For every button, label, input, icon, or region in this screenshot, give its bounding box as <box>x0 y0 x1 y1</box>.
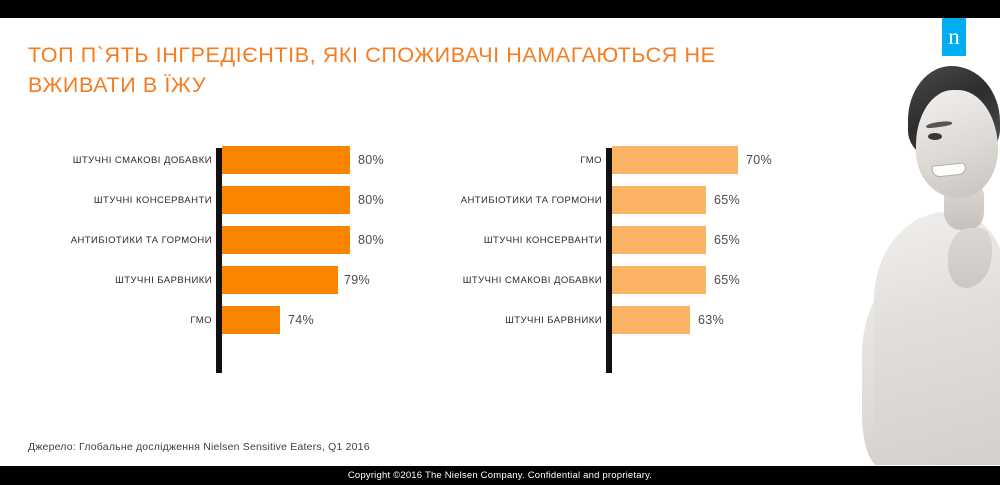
bar-label: АНТИБІОТИКИ ТА ГОРМОНИ <box>2 235 212 246</box>
table-row: ШТУЧНІ КОНСЕРВАНТИ 80% <box>30 180 450 220</box>
bar-value: 65% <box>714 193 740 207</box>
bar-label: ШТУЧНІ СМАКОВІ ДОБАВКИ <box>2 155 212 166</box>
bar <box>222 266 338 294</box>
bar-label: АНТИБІОТИКИ ТА ГОРМОНИ <box>392 195 602 206</box>
table-row: ГМО 74% <box>30 300 450 340</box>
top-black-bar <box>0 0 1000 18</box>
bar <box>612 306 690 334</box>
bar-value: 63% <box>698 313 724 327</box>
source-note: Джерело: Глобальне дослідження Nielsen S… <box>28 441 370 453</box>
bar-rows-ukraine: ШТУЧНІ СМАКОВІ ДОБАВКИ 80% ШТУЧНІ КОНСЕР… <box>30 140 450 340</box>
bar-value: 74% <box>288 313 314 327</box>
bar-label: ШТУЧНІ СМАКОВІ ДОБАВКИ <box>392 275 602 286</box>
bar-value: 80% <box>358 233 384 247</box>
copyright-bar: Copyright ©2016 The Nielsen Company. Con… <box>0 466 1000 485</box>
table-row: АНТИБІОТИКИ ТА ГОРМОНИ 80% <box>30 220 450 260</box>
bar-value: 79% <box>344 273 370 287</box>
table-row: ШТУЧНІ БАРВНИКИ 63% <box>420 300 840 340</box>
infographic-page: n ТОП П`ЯТЬ ІНГРЕДІЄНТІВ, ЯКІ СПОЖИВАЧІ … <box>0 0 1000 485</box>
bar <box>612 226 706 254</box>
bar <box>612 146 738 174</box>
chart-europe: ГМО 70% АНТИБІОТИКИ ТА ГОРМОНИ 65% ШТУЧН… <box>420 140 840 385</box>
bar-value: 65% <box>714 233 740 247</box>
bar <box>222 186 350 214</box>
table-row: АНТИБІОТИКИ ТА ГОРМОНИ 65% <box>420 180 840 220</box>
bar-label: ШТУЧНІ БАРВНИКИ <box>392 315 602 326</box>
bar-label: ШТУЧНІ КОНСЕРВАНТИ <box>392 235 602 246</box>
nielsen-logo: n <box>942 18 966 56</box>
bar <box>612 266 706 294</box>
bar <box>222 146 350 174</box>
photo-face <box>916 90 998 198</box>
photo-eye <box>928 133 942 140</box>
chart-ukraine: ШТУЧНІ СМАКОВІ ДОБАВКИ 80% ШТУЧНІ КОНСЕР… <box>30 140 450 385</box>
bar <box>222 306 280 334</box>
table-row: ГМО 70% <box>420 140 840 180</box>
table-row: ШТУЧНІ СМАКОВІ ДОБАВКИ 65% <box>420 260 840 300</box>
bar-value: 70% <box>746 153 772 167</box>
bar-label: ГМО <box>392 155 602 166</box>
table-row: ШТУЧНІ СМАКОВІ ДОБАВКИ 80% <box>30 140 450 180</box>
bar-value: 65% <box>714 273 740 287</box>
bar-value: 80% <box>358 153 384 167</box>
page-title: ТОП П`ЯТЬ ІНГРЕДІЄНТІВ, ЯКІ СПОЖИВАЧІ НА… <box>28 40 788 100</box>
woman-photo <box>860 60 1000 465</box>
bar-rows-europe: ГМО 70% АНТИБІОТИКИ ТА ГОРМОНИ 65% ШТУЧН… <box>420 140 840 340</box>
table-row: ШТУЧНІ КОНСЕРВАНТИ 65% <box>420 220 840 260</box>
bar-label: ШТУЧНІ БАРВНИКИ <box>2 275 212 286</box>
bar-label: ГМО <box>2 315 212 326</box>
bar <box>222 226 350 254</box>
table-row: ШТУЧНІ БАРВНИКИ 79% <box>30 260 450 300</box>
bar <box>612 186 706 214</box>
bar-value: 80% <box>358 193 384 207</box>
bar-label: ШТУЧНІ КОНСЕРВАНТИ <box>2 195 212 206</box>
